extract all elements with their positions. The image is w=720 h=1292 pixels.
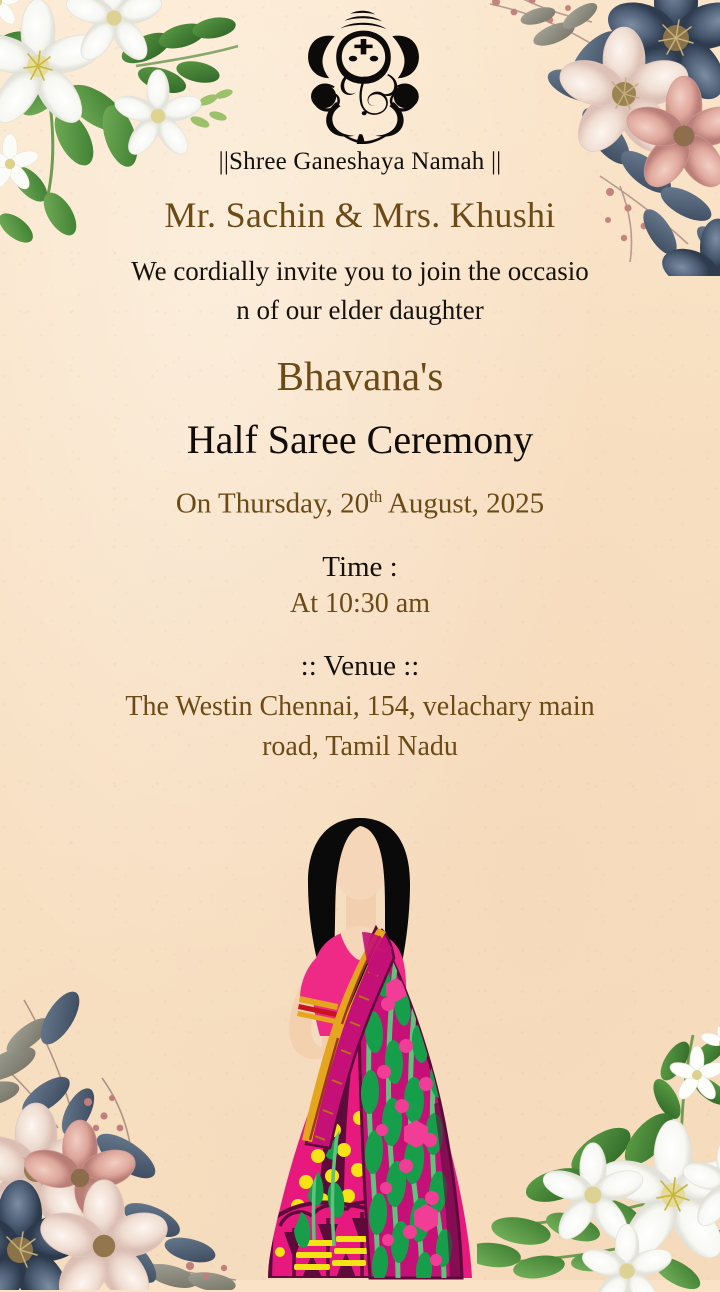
ceremony-title: Half Saree Ceremony bbox=[0, 416, 720, 463]
time-label: Time : bbox=[0, 551, 720, 584]
event-date-ordinal: th bbox=[369, 487, 382, 506]
mantra-text: ||Shree Ganeshaya Namah || bbox=[0, 148, 720, 176]
event-date-prefix: On Thursday, 20 bbox=[176, 488, 369, 520]
white-floral-corner-icon bbox=[477, 1027, 720, 1292]
invite-message-line-2: n of our elder daughter bbox=[52, 291, 668, 330]
invite-message: We cordially invite you to join the occa… bbox=[0, 252, 720, 330]
hosts-names: Mr. Sachin & Mrs. Khushi bbox=[0, 194, 720, 236]
invitation-card: ||Shree Ganeshaya Namah || Mr. Sachin & … bbox=[0, 0, 720, 1280]
venue-address: The Westin Chennai, 154, velachary main … bbox=[0, 687, 720, 767]
celebrant-name: Bhavana's bbox=[0, 352, 720, 400]
venue-address-line-2: road, Tamil Nadu bbox=[48, 727, 672, 767]
woman-in-saree-illustration bbox=[210, 800, 510, 1280]
event-date-suffix: August, 2025 bbox=[382, 488, 544, 520]
invitation-text-block: ||Shree Ganeshaya Namah || Mr. Sachin & … bbox=[0, 0, 720, 766]
event-date: On Thursday, 20th August, 2025 bbox=[0, 487, 720, 521]
invite-message-line-1: We cordially invite you to join the occa… bbox=[52, 252, 668, 291]
time-value: At 10:30 am bbox=[0, 588, 720, 620]
venue-label: :: Venue :: bbox=[0, 650, 720, 683]
venue-address-line-1: The Westin Chennai, 154, velachary main bbox=[48, 687, 672, 727]
